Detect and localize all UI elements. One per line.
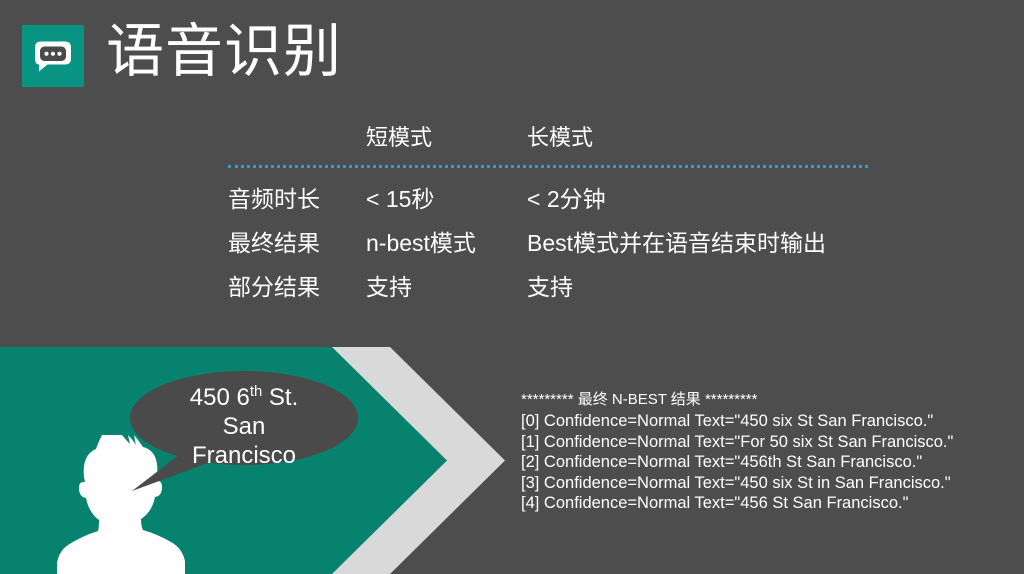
table-divider — [228, 165, 868, 168]
chat-bubble-icon — [22, 25, 84, 87]
row-value-long: Best模式并在语音结束时输出 — [527, 223, 870, 263]
page-title: 语音识别 — [106, 23, 342, 81]
column-header-long-mode: 长模式 — [527, 118, 870, 158]
row-label: 最终结果 — [228, 223, 366, 263]
table-row: 部分结果 支持 支持 — [228, 267, 870, 307]
nbest-line: [2] Confidence=Normal Text="456th St San… — [521, 452, 1021, 473]
column-header-short-mode: 短模式 — [366, 118, 527, 158]
table-header-row: 短模式 长模式 — [228, 118, 870, 158]
row-label: 音频时长 — [228, 179, 366, 219]
row-value-short: 支持 — [366, 267, 527, 307]
nbest-results-panel: ********* 最终 N-BEST 结果 ********* [0] Con… — [521, 390, 1021, 514]
nbest-line: [0] Confidence=Normal Text="450 six St S… — [521, 411, 1021, 432]
table-row: 最终结果 n-best模式 Best模式并在语音结束时输出 — [228, 223, 870, 263]
mode-comparison-table: 短模式 长模式 音频时长 < 15秒 < 2分钟 最终结果 n-best模式 B… — [228, 118, 870, 311]
table-row: 音频时长 < 15秒 < 2分钟 — [228, 179, 870, 219]
title-bar: 语音识别 — [22, 14, 342, 90]
row-label: 部分结果 — [228, 267, 366, 307]
nbest-title: ********* 最终 N-BEST 结果 ********* — [521, 390, 1021, 410]
row-value-long: < 2分钟 — [527, 179, 870, 219]
nbest-line: [4] Confidence=Normal Text="456 St San F… — [521, 493, 1021, 514]
row-value-long: 支持 — [527, 267, 870, 307]
speech-bubble-shape — [130, 371, 358, 493]
slide-canvas: 语音识别 短模式 长模式 音频时长 < 15秒 < 2分钟 最终结果 n-bes… — [0, 0, 1024, 574]
row-value-short: n-best模式 — [366, 223, 527, 263]
row-value-short: < 15秒 — [366, 179, 527, 219]
nbest-line: [3] Confidence=Normal Text="450 six St i… — [521, 473, 1021, 494]
nbest-line: [1] Confidence=Normal Text="For 50 six S… — [521, 432, 1021, 453]
